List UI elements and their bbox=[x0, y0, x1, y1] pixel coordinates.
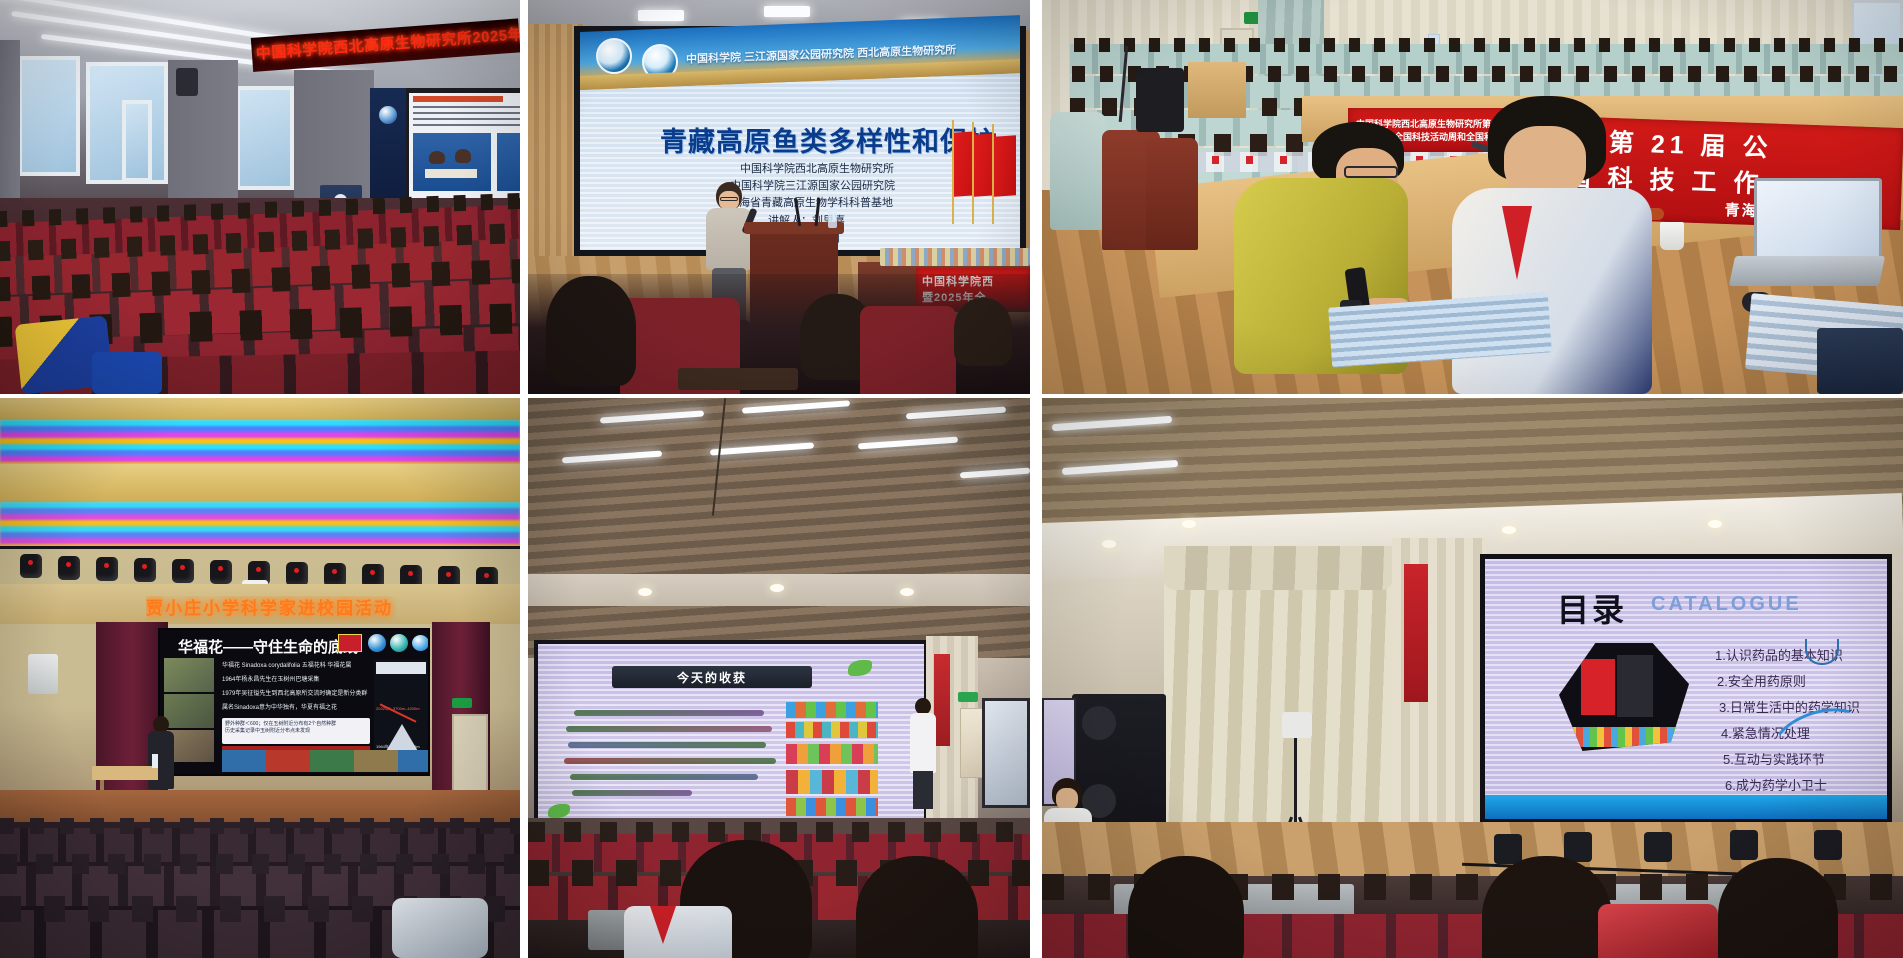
wooden-chair-2 bbox=[1146, 138, 1198, 250]
rainbow-light-strip-2 bbox=[0, 502, 520, 548]
stage-lamp-5 bbox=[172, 559, 194, 583]
pa-speaker-box-3 bbox=[1136, 68, 1184, 132]
speaker-box bbox=[176, 68, 198, 96]
medicine-box-dark bbox=[1617, 655, 1653, 717]
screen-specimen-image bbox=[413, 133, 491, 191]
led-screen-5: 今天的收获 bbox=[534, 640, 928, 836]
slide-title-5: 今天的收获 bbox=[677, 669, 747, 686]
slide-logo-3 bbox=[412, 635, 429, 651]
student-blue-pants bbox=[92, 352, 162, 394]
audience-head-2a bbox=[546, 276, 636, 386]
specimen-2 bbox=[455, 149, 471, 163]
wall-ac-unit bbox=[28, 654, 58, 694]
slide-thumb-5e bbox=[786, 798, 878, 816]
student-white-uniform-4 bbox=[392, 898, 488, 958]
floor-uplight-1 bbox=[1494, 834, 1522, 864]
lamp-indicator bbox=[218, 566, 223, 571]
slide-leaf-decor-5b bbox=[548, 804, 570, 818]
slide-line-1: 中国科学院三江源国家公园研究院 bbox=[730, 177, 895, 193]
catalogue-item-5: 6.成为药学小卫士 bbox=[1725, 775, 1827, 794]
slide-text-line-3 bbox=[568, 742, 766, 748]
slide-thumb-5c bbox=[786, 744, 878, 764]
lamp-indicator bbox=[66, 562, 71, 567]
flag-group bbox=[946, 120, 1018, 230]
downlight-5a bbox=[638, 588, 652, 596]
slide-thumbs-row bbox=[222, 750, 428, 772]
window-1 bbox=[18, 56, 80, 176]
side-tv-5 bbox=[982, 698, 1030, 808]
floor-uplight-2 bbox=[1564, 832, 1592, 862]
catalogue-item-1: 2.安全用药原则 bbox=[1717, 671, 1806, 690]
audience-heads-5a bbox=[528, 822, 1030, 842]
medicine-box-red bbox=[1581, 659, 1615, 715]
photo-6-pharmacy-lecture[interactable]: 目录 CATALOGUE 1.认识药品的基本知识 2.安全用药原则 3.日常生活… bbox=[1042, 398, 1903, 958]
slide-thumb-5a bbox=[786, 702, 878, 718]
slide-text-line-1 bbox=[574, 710, 764, 716]
flag-3 bbox=[994, 135, 1016, 197]
foreground-head-6a bbox=[1128, 856, 1244, 958]
stage-lamp-1 bbox=[20, 554, 42, 578]
stage-lamp-3 bbox=[96, 557, 118, 581]
lamp-indicator bbox=[294, 568, 299, 573]
screen-header-bar bbox=[413, 96, 503, 102]
slide-bottom-bar-6 bbox=[1485, 795, 1887, 819]
institute-globe-logo bbox=[379, 106, 397, 124]
photo-collage: 中国科学院西北高原生物研究所2025年全国科技活动周和全 bbox=[0, 0, 1903, 958]
slide-bullet-0: 华福花 Sinadoxa corydalifolia 五福花科 华福花属 bbox=[222, 660, 351, 669]
slide-title-4: 华福花——守住生命的底线 bbox=[178, 636, 358, 657]
slide-logo-1 bbox=[368, 634, 386, 652]
lamp-indicator bbox=[446, 572, 451, 577]
presenter-legs-5 bbox=[913, 771, 933, 809]
exit-sign-5 bbox=[958, 692, 978, 702]
laptop-computer[interactable] bbox=[1732, 178, 1882, 298]
photo-1-auditorium[interactable]: 中国科学院西北高原生物研究所2025年全国科技活动周和全 bbox=[0, 0, 520, 394]
student-jacket-3 bbox=[1452, 188, 1652, 394]
camera-body-6 bbox=[1282, 712, 1312, 738]
led-banner-strip-4: 贾小庄小学科学家进校园活动 bbox=[146, 596, 396, 622]
slide-bullet-2: 1979年吴征镒先生到西北高原所交流时确定是新分类群 bbox=[222, 688, 367, 697]
stage-lamp-row bbox=[0, 548, 520, 584]
staff-glasses bbox=[1344, 166, 1398, 178]
presenter-face-6 bbox=[1056, 788, 1078, 810]
speaker-jacket bbox=[706, 208, 752, 270]
lamp-indicator bbox=[256, 567, 261, 572]
slide-photo-1 bbox=[164, 658, 214, 692]
presenter-body-5 bbox=[910, 713, 936, 773]
slide-logo-2 bbox=[390, 634, 408, 652]
slide-note-line-1: 野外种群＜600；仅在玉树附近分布有2个自然种群 bbox=[225, 720, 367, 727]
photo-5-students-watching-slide[interactable]: 今天的收获 bbox=[528, 398, 1030, 958]
slide-text-line-6 bbox=[572, 790, 692, 796]
stage-lamp-4 bbox=[134, 558, 156, 582]
slide-leaf-decor-5 bbox=[848, 660, 872, 676]
rainbow-light-strip bbox=[0, 420, 520, 466]
screen-specimen-image-2 bbox=[497, 133, 520, 191]
slide-logo-badge-red bbox=[338, 634, 362, 652]
slide-thumb-5d bbox=[786, 770, 878, 794]
laptop-keyboard[interactable] bbox=[1729, 256, 1885, 286]
desk-edge-2 bbox=[678, 368, 798, 390]
presenter-table-4 bbox=[92, 766, 158, 780]
lamp-indicator bbox=[332, 569, 337, 574]
slide-title-en-6: CATALOGUE bbox=[1651, 593, 1802, 616]
window-3 bbox=[236, 86, 294, 190]
stage-led-screen: 华福花——守住生命的底线 华福花 Sinadoxa corydalifolia … bbox=[158, 628, 430, 776]
foreground-uniform-6 bbox=[1598, 904, 1718, 958]
window-4 bbox=[122, 100, 152, 182]
slide-title-6: 目录 bbox=[1557, 585, 1627, 631]
slide-text-line-5 bbox=[570, 774, 758, 780]
lamp-indicator bbox=[408, 571, 413, 576]
audience-heads-4a bbox=[0, 818, 520, 834]
photo-4-school-auditorium-stage[interactable]: 贾小庄小学科学家进校园活动 华福花——守住生命的底线 华福花 Sinadoxa … bbox=[0, 398, 520, 958]
ceiling-gold-band-mid bbox=[0, 464, 520, 502]
ceiling-panel-light-1 bbox=[638, 10, 684, 21]
led-screen-6: 目录 CATALOGUE 1.认识药品的基本知识 2.安全用药原则 3.日常生活… bbox=[1480, 554, 1892, 824]
ceiling-gold-band-top bbox=[0, 398, 520, 420]
slide-line-0: 中国科学院西北高原生物研究所 bbox=[740, 160, 894, 176]
wall-panel-left bbox=[0, 40, 20, 210]
curtain-valance-6 bbox=[1164, 546, 1392, 590]
lamp-indicator bbox=[180, 565, 185, 570]
ceiling-panel-light-2 bbox=[764, 6, 810, 17]
downlight-6b bbox=[1182, 520, 1196, 528]
lamp-indicator bbox=[28, 560, 33, 565]
slide-thumb-5b bbox=[786, 722, 878, 738]
presenter-5[interactable] bbox=[910, 698, 936, 810]
downlight-5c bbox=[900, 588, 914, 596]
downlight-6a bbox=[1102, 540, 1116, 548]
audience-heads-4b bbox=[0, 854, 520, 874]
upholstered-chair-1 bbox=[1050, 112, 1106, 230]
screen-text-block bbox=[413, 106, 520, 128]
foreground-head-6c bbox=[1718, 858, 1838, 958]
slide-bullet-3: 属名Sinadoxa意为中华独有，华夏有福之花 bbox=[222, 702, 337, 711]
specimen-1 bbox=[429, 151, 445, 164]
downlight-6d bbox=[1708, 520, 1722, 528]
photo-2-speaker-presentation[interactable]: 中国科学院 三江源国家公园研究院 西北高原生物研究所 青藏高原鱼类多样性和保护 … bbox=[528, 0, 1030, 394]
institute-logo-1 bbox=[596, 38, 632, 74]
student-heads-tier-1 bbox=[1074, 38, 1903, 52]
grid-gap-v2 bbox=[1030, 0, 1042, 394]
audience-seat-2b bbox=[860, 306, 956, 394]
slide-note-box: 野外种群＜600；仅在玉树附近分布有2个自然种群 历史采集记录中玉树附近分布点未… bbox=[222, 718, 370, 744]
lamp-indicator bbox=[142, 564, 147, 569]
floor-uplight-3 bbox=[1644, 832, 1672, 862]
photo-3-staff-and-students[interactable]: 中国科学院西北高原生物研究所第21届公众科学日 暨2025年全国科技活动周和全国… bbox=[1042, 0, 1903, 394]
stage-lamp-2 bbox=[58, 556, 80, 580]
water-bottle-4 bbox=[152, 754, 158, 768]
wood-slat-ceiling-5 bbox=[528, 398, 1030, 574]
decor-scroll-5 bbox=[934, 654, 950, 746]
stage-lamp-8 bbox=[286, 562, 308, 586]
speaker-glasses bbox=[720, 197, 738, 201]
stacked-books bbox=[880, 248, 1030, 266]
presentation-screen bbox=[404, 88, 520, 210]
audience-head-2c bbox=[954, 298, 1012, 366]
laptop-screen bbox=[1754, 178, 1882, 260]
foreground-head-5b bbox=[856, 856, 978, 958]
slide-bullet-1: 1964年杨永昌先生在玉树州巴塘采集 bbox=[222, 674, 319, 683]
floor-uplight-4 bbox=[1730, 830, 1758, 860]
slide-title-bar-5: 今天的收获 bbox=[612, 666, 812, 688]
downlight-5b bbox=[770, 584, 784, 592]
lamp-indicator bbox=[370, 570, 375, 575]
floor-uplight-5 bbox=[1814, 830, 1842, 860]
led-banner-text-4: 贾小庄小学科学家进校园活动 bbox=[146, 596, 396, 622]
slide-note-line-2: 历史采集记录中玉树附近分布点未发现 bbox=[225, 727, 367, 734]
exit-sign-4 bbox=[452, 698, 472, 708]
device-bottom-right bbox=[1817, 328, 1903, 394]
water-bottle bbox=[828, 208, 837, 228]
foreground-student-uniform-5 bbox=[624, 906, 732, 958]
lamp-indicator bbox=[484, 573, 489, 578]
decor-scroll-6 bbox=[1404, 564, 1428, 702]
pa-speaker-driver-1 bbox=[1082, 706, 1116, 740]
pills-scatter bbox=[1569, 727, 1679, 747]
lamp-indicator bbox=[104, 563, 109, 568]
stage-lamp-6 bbox=[210, 560, 232, 584]
downlight-6c bbox=[1502, 526, 1516, 534]
slide-hexagon-image bbox=[1559, 643, 1689, 751]
small-podium-3 bbox=[1188, 62, 1246, 118]
curtain-wall-6 bbox=[1164, 546, 1392, 846]
grid-gap-v1 bbox=[520, 0, 528, 394]
side-door-4 bbox=[452, 714, 488, 798]
slide-elevation-chart: 2022年：3700m–4200m 1964年：3950m–4000m bbox=[374, 660, 428, 760]
slide-text-line-4 bbox=[564, 758, 776, 764]
slide-text-line-2 bbox=[566, 726, 772, 732]
elevation-label-box bbox=[376, 662, 426, 674]
specimen-label bbox=[425, 169, 477, 178]
